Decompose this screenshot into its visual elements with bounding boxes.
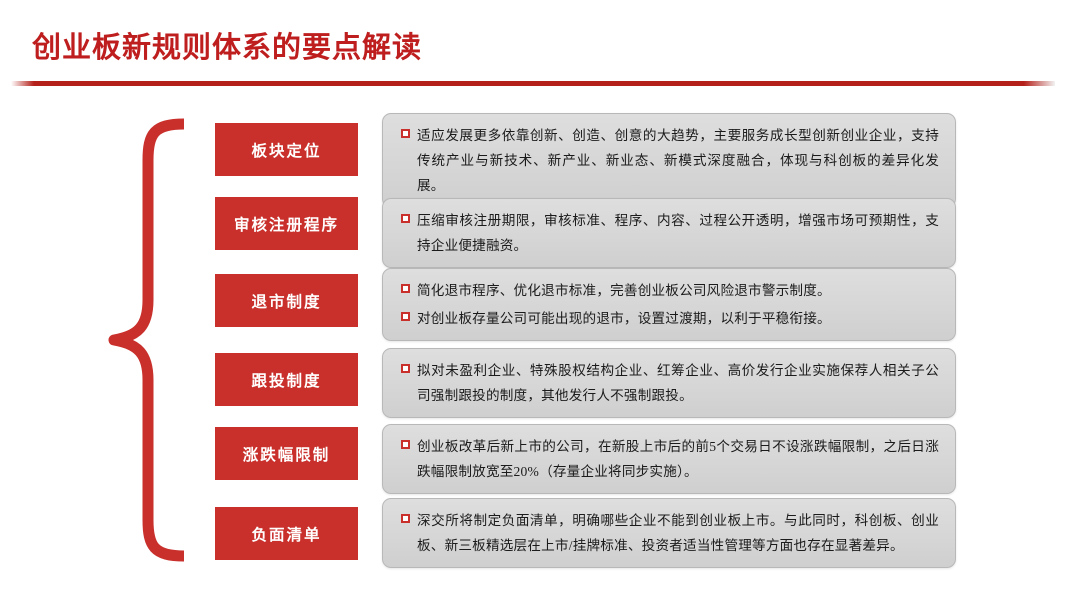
- bullet-square-icon: [401, 364, 410, 373]
- category-label-5[interactable]: 涨跌幅限制: [215, 427, 358, 480]
- bullet-item: 拟对未盈利企业、特殊股权结构企业、红筹企业、高价发行企业实施保荐人相关子公司强制…: [401, 358, 939, 408]
- bullet-item: 压缩审核注册期限，审核标准、程序、内容、过程公开透明，增强市场可预期性，支持企业…: [401, 208, 939, 258]
- bullet-square-icon: [401, 440, 410, 449]
- bullet-text: 深交所将制定负面清单，明确哪些企业不能到创业板上市。与此同时，科创板、创业板、新…: [417, 508, 939, 558]
- detail-card-3: 简化退市程序、优化退市标准，完善创业板公司风险退市警示制度。对创业板存量公司可能…: [382, 268, 956, 341]
- detail-card-1: 适应发展更多依靠创新、创造、创意的大趋势，主要服务成长型创新创业企业，支持传统产…: [382, 113, 956, 208]
- bullet-square-icon: [401, 284, 410, 293]
- bullet-item: 对创业板存量公司可能出现的退市，设置过渡期，以利于平稳衔接。: [401, 306, 939, 331]
- bullet-text: 适应发展更多依靠创新、创造、创意的大趋势，主要服务成长型创新创业企业，支持传统产…: [417, 123, 939, 198]
- bullet-text: 创业板改革后新上市的公司，在新股上市后的前5个交易日不设涨跌幅限制，之后日涨跌幅…: [417, 434, 939, 484]
- bullet-text: 简化退市程序、优化退市标准，完善创业板公司风险退市警示制度。: [417, 278, 939, 303]
- detail-card-5: 创业板改革后新上市的公司，在新股上市后的前5个交易日不设涨跌幅限制，之后日涨跌幅…: [382, 424, 956, 494]
- bullet-square-icon: [401, 129, 410, 138]
- detail-card-4: 拟对未盈利企业、特殊股权结构企业、红筹企业、高价发行企业实施保荐人相关子公司强制…: [382, 348, 956, 418]
- bullet-item: 深交所将制定负面清单，明确哪些企业不能到创业板上市。与此同时，科创板、创业板、新…: [401, 508, 939, 558]
- category-label-6[interactable]: 负面清单: [215, 507, 358, 560]
- bullet-item: 适应发展更多依靠创新、创造、创意的大趋势，主要服务成长型创新创业企业，支持传统产…: [401, 123, 939, 198]
- bullet-item: 创业板改革后新上市的公司，在新股上市后的前5个交易日不设涨跌幅限制，之后日涨跌幅…: [401, 434, 939, 484]
- category-label-1[interactable]: 板块定位: [215, 123, 358, 176]
- bullet-square-icon: [401, 312, 410, 321]
- bullet-text: 对创业板存量公司可能出现的退市，设置过渡期，以利于平稳衔接。: [417, 306, 939, 331]
- bullet-square-icon: [401, 514, 410, 523]
- bullet-item: 简化退市程序、优化退市标准，完善创业板公司风险退市警示制度。: [401, 278, 939, 303]
- category-label-3[interactable]: 退市制度: [215, 274, 358, 327]
- content-rows: 板块定位适应发展更多依靠创新、创造、创意的大趋势，主要服务成长型创新创业企业，支…: [0, 0, 1066, 600]
- detail-card-2: 压缩审核注册期限，审核标准、程序、内容、过程公开透明，增强市场可预期性，支持企业…: [382, 198, 956, 268]
- bullet-text: 压缩审核注册期限，审核标准、程序、内容、过程公开透明，增强市场可预期性，支持企业…: [417, 208, 939, 258]
- category-label-4[interactable]: 跟投制度: [215, 353, 358, 406]
- bullet-text: 拟对未盈利企业、特殊股权结构企业、红筹企业、高价发行企业实施保荐人相关子公司强制…: [417, 358, 939, 408]
- category-label-2[interactable]: 审核注册程序: [215, 197, 358, 250]
- detail-card-6: 深交所将制定负面清单，明确哪些企业不能到创业板上市。与此同时，科创板、创业板、新…: [382, 498, 956, 568]
- bullet-square-icon: [401, 214, 410, 223]
